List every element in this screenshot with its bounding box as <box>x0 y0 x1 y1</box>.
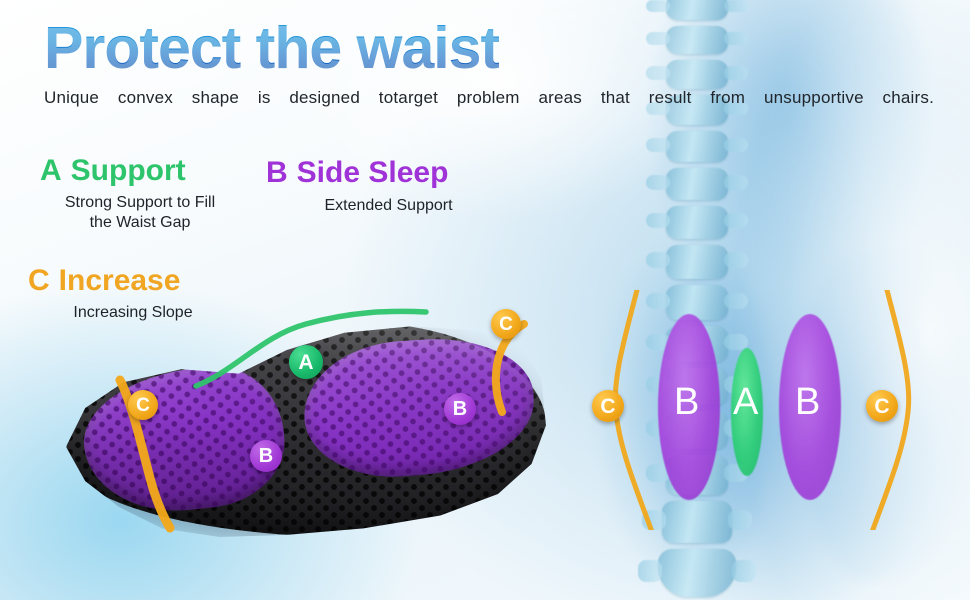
feature-a-name: Support <box>71 154 186 187</box>
feature-b-description: Extended Support <box>266 196 511 216</box>
infographic-banner: Protect the waist Unique convex shape is… <box>0 0 970 600</box>
feature-b-side-sleep: BSide Sleep Extended Support <box>266 158 511 216</box>
feature-a-description: Strong Support to Fill the Waist Gap <box>40 193 240 232</box>
feature-a-support: ASupport Strong Support to Fill the Wais… <box>40 156 240 232</box>
anatomy-label-b-right: B <box>795 381 820 424</box>
feature-a-letter: A <box>40 154 62 187</box>
feature-c-letter: C <box>28 264 50 297</box>
feature-a-desc-line2: the Waist Gap <box>40 213 240 233</box>
page-subtitle: Unique convex shape is designed totarget… <box>44 88 934 108</box>
pillow-marker-c-left: C <box>128 390 158 420</box>
pillow-marker-b-lower: B <box>250 440 282 472</box>
anatomy-marker-c-left: C <box>592 390 624 422</box>
feature-a-desc-line1: Strong Support to Fill <box>40 193 240 213</box>
feature-c-name: Increase <box>59 264 181 297</box>
pillow-marker-b-right: B <box>444 393 476 425</box>
anatomy-label-a: A <box>733 381 758 424</box>
feature-b-name: Side Sleep <box>297 156 449 189</box>
feature-b-heading: BSide Sleep <box>266 158 511 188</box>
anatomy-label-b-left: B <box>674 381 699 424</box>
product-pillow-image: C A B B C <box>58 300 558 555</box>
feature-c-heading: CIncrease <box>28 266 238 296</box>
pillow-marker-c-right: C <box>491 309 521 339</box>
pillow-marker-a: A <box>289 345 323 379</box>
feature-b-desc-line1: Extended Support <box>266 196 511 216</box>
anatomy-marker-c-right: C <box>866 390 898 422</box>
anatomy-overlay: B A B C C <box>560 290 970 530</box>
feature-a-heading: ASupport <box>40 156 240 186</box>
feature-b-letter: B <box>266 156 288 189</box>
page-title: Protect the waist <box>44 14 499 82</box>
